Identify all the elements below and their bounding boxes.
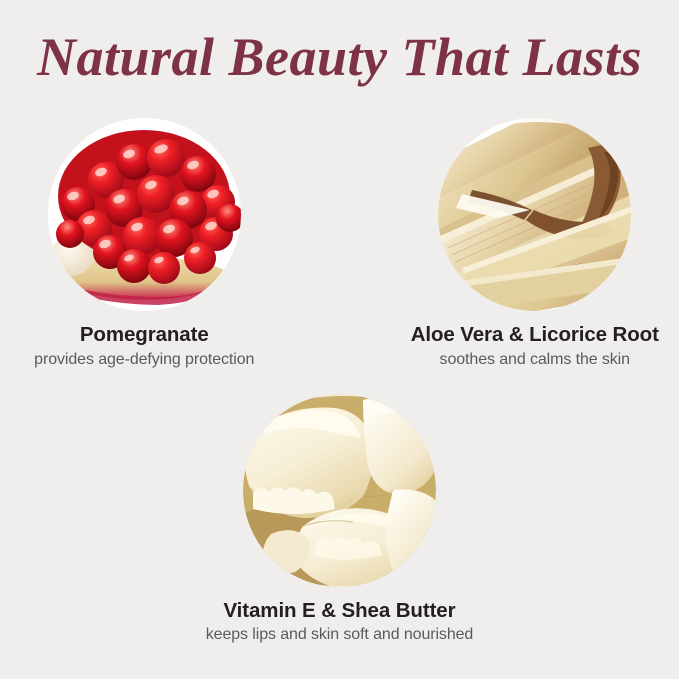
ingredients-row-top: Pomegranate provides age-defying protect… xyxy=(0,118,679,368)
ingredient-card-pomegranate: Pomegranate provides age-defying protect… xyxy=(0,118,289,368)
licorice-root-image xyxy=(438,118,631,311)
ingredient-description: soothes and calms the skin xyxy=(411,352,659,368)
ingredient-description: provides age-defying protection xyxy=(34,352,254,368)
ingredients-row-bottom: Vitamin E & Shea Butter keeps lips and s… xyxy=(0,394,679,644)
ingredients-grid: Pomegranate provides age-defying protect… xyxy=(0,118,679,643)
pomegranate-image xyxy=(48,118,241,311)
page-title: Natural Beauty That Lasts xyxy=(0,26,679,88)
ingredient-name: Aloe Vera & Licorice Root xyxy=(411,325,659,346)
ingredient-name: Pomegranate xyxy=(34,325,254,346)
ingredient-card-licorice-root: Aloe Vera & Licorice Root soothes and ca… xyxy=(391,118,679,368)
ingredient-card-shea-butter: Vitamin E & Shea Butter keeps lips and s… xyxy=(192,394,488,644)
licorice-root-caption: Aloe Vera & Licorice Root soothes and ca… xyxy=(411,325,659,368)
ingredient-name: Vitamin E & Shea Butter xyxy=(206,601,473,622)
shea-butter-image xyxy=(243,394,436,587)
shea-butter-caption: Vitamin E & Shea Butter keeps lips and s… xyxy=(206,601,473,644)
ingredient-description: keeps lips and skin soft and nourished xyxy=(206,627,473,643)
pomegranate-caption: Pomegranate provides age-defying protect… xyxy=(34,325,254,368)
